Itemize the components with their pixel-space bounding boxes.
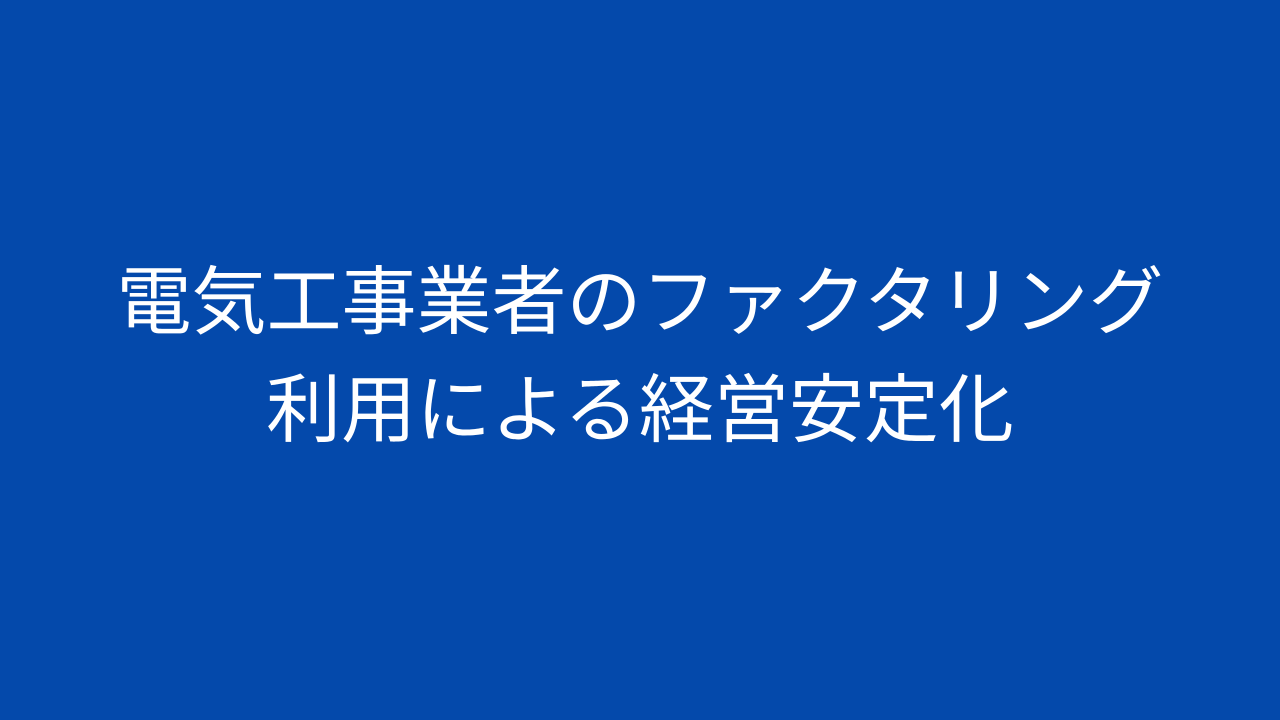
slide-title-line-2: 利用による経営安定化 <box>0 356 1280 464</box>
title-slide: 電気工事業者のファクタリング 利用による経営安定化 <box>0 0 1280 720</box>
slide-title-line-1: 電気工事業者のファクタリング <box>0 248 1280 356</box>
slide-title-block: 電気工事業者のファクタリング 利用による経営安定化 <box>0 248 1280 464</box>
